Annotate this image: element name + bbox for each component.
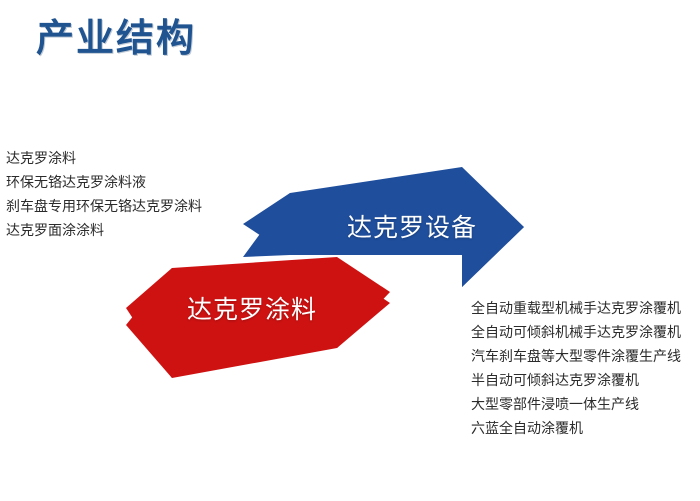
right-text-line: 全自动可倾斜机械手达克罗涂覆机 (471, 320, 681, 344)
right-text-line: 半自动可倾斜达克罗涂覆机 (471, 368, 681, 392)
right-text-line: 六蓝全自动涂覆机 (471, 416, 681, 440)
right-text-line: 大型零部件浸喷一体生产线 (471, 392, 681, 416)
slide-canvas: 产业结构 达克罗涂料 环保无铬达克罗涂料液 刹车盘专用环保无铬达克罗涂料 达克罗… (0, 0, 700, 501)
blue-arrow-label: 达克罗设备 (347, 208, 477, 244)
red-arrow-label: 达克罗涂料 (187, 290, 317, 326)
right-text-line: 汽车刹车盘等大型零件涂覆生产线 (471, 344, 681, 368)
right-text-line: 全自动重载型机械手达克罗涂覆机 (471, 296, 681, 320)
right-text-block: 全自动重载型机械手达克罗涂覆机 全自动可倾斜机械手达克罗涂覆机 汽车刹车盘等大型… (471, 296, 681, 440)
